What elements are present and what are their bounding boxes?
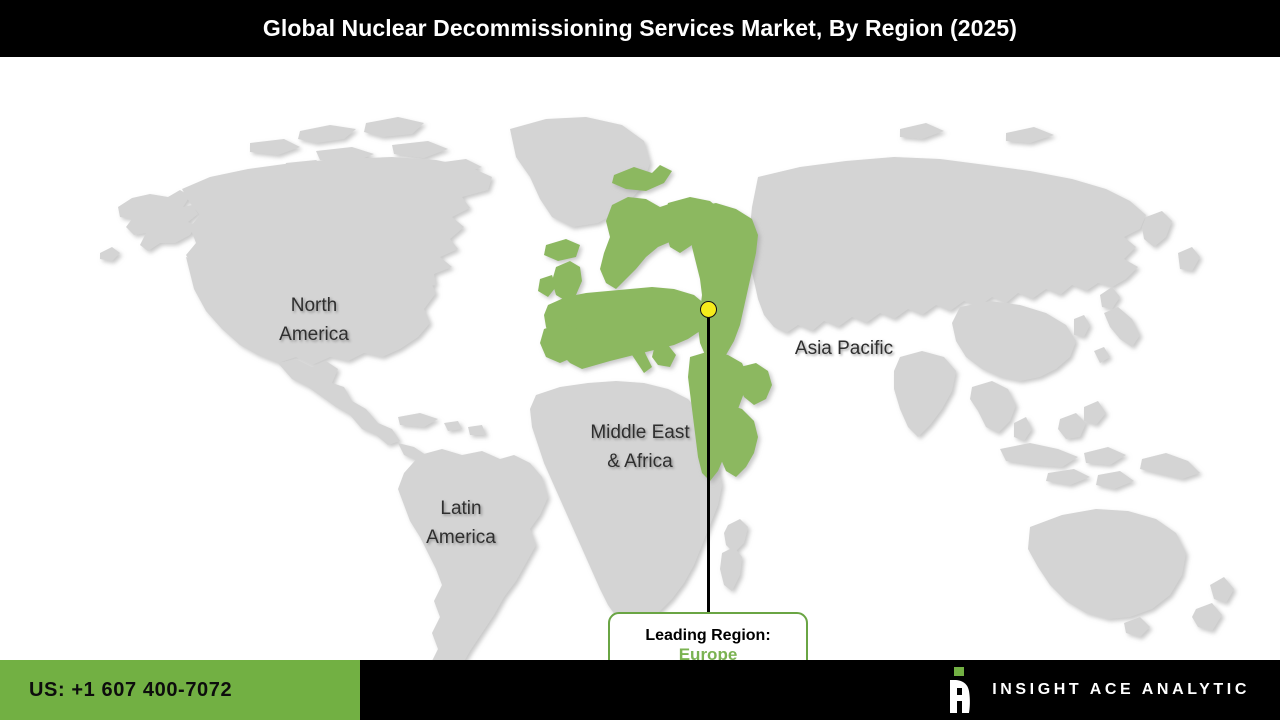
map-landmasses-base: [100, 117, 1234, 660]
footer-brand: INSIGHT ACE ANALYTIC: [945, 660, 1250, 720]
footer-phone-panel: US: +1 607 400-7072: [0, 660, 360, 720]
insight-ace-analytic-logo-icon: [945, 667, 975, 713]
footer-phone-number[interactable]: US: +1 607 400-7072: [29, 679, 232, 702]
title-bar: Global Nuclear Decommissioning Services …: [0, 0, 1280, 57]
world-map-svg: [0, 57, 1280, 660]
page-title: Global Nuclear Decommissioning Services …: [263, 15, 1017, 42]
callout-title: Leading Region:: [645, 627, 770, 645]
brand-name: INSIGHT ACE ANALYTIC: [992, 681, 1250, 699]
leading-region-marker-icon: [700, 301, 717, 318]
world-map-container: North America Latin America Middle East …: [0, 57, 1280, 660]
footer-bar: US: +1 607 400-7072 INSIGHT ACE ANALYTIC: [0, 660, 1280, 720]
marker-leader-line: [707, 309, 710, 612]
